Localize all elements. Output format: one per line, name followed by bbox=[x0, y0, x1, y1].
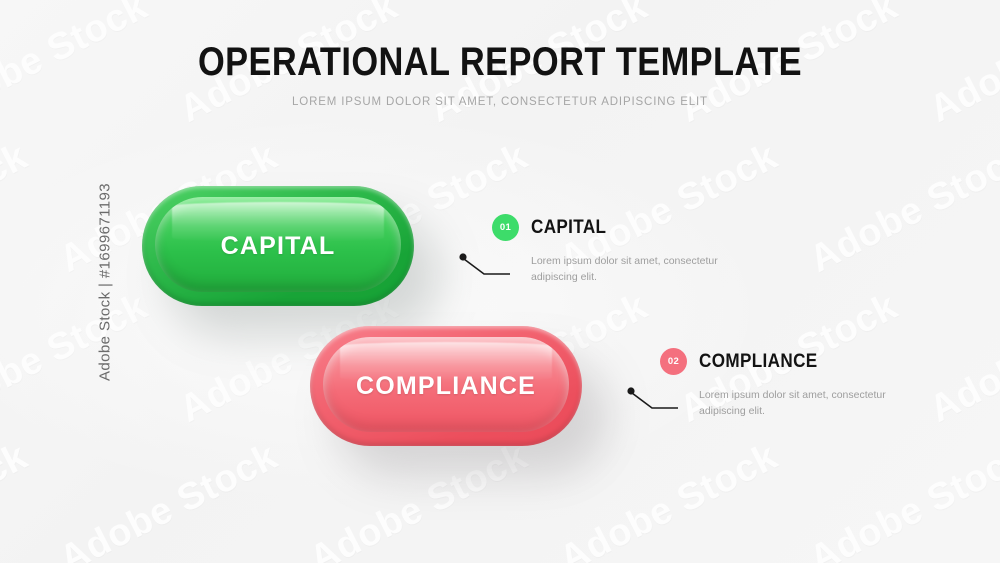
watermark-text: Adobe Stock bbox=[53, 436, 284, 563]
capsule-button-capital[interactable]: CAPITAL bbox=[142, 186, 414, 306]
capsule-button-compliance[interactable]: COMPLIANCE bbox=[310, 326, 582, 446]
info-body-capital: Lorem ipsum dolor sit amet, consectetur … bbox=[531, 253, 721, 286]
info-title-capital: CAPITAL bbox=[531, 218, 606, 237]
watermark-text: Adobe Stock bbox=[0, 436, 35, 563]
capsule-label-compliance: COMPLIANCE bbox=[356, 372, 536, 401]
watermark-text: Adobe Stock bbox=[0, 136, 35, 282]
step-badge-02: 02 bbox=[660, 348, 687, 375]
watermark-text: Adobe Stock bbox=[0, 286, 155, 432]
watermark-text: Adobe Stock bbox=[553, 436, 784, 563]
info-block-compliance: 02 COMPLIANCE Lorem ipsum dolor sit amet… bbox=[660, 348, 889, 420]
watermark-text: Adobe Stock bbox=[923, 286, 1000, 432]
capsule-label-capital: CAPITAL bbox=[221, 232, 336, 261]
watermark-text: Adobe Stock bbox=[803, 136, 1000, 282]
info-header: 01 CAPITAL bbox=[492, 214, 721, 241]
page-subtitle: LOREM IPSUM DOLOR SIT AMET, CONSECTETUR … bbox=[0, 96, 1000, 108]
stock-id-watermark: Adobe Stock | #1699671193 bbox=[96, 183, 113, 381]
watermark-text: Adobe Stock bbox=[803, 436, 1000, 563]
info-header: 02 COMPLIANCE bbox=[660, 348, 889, 375]
header: OPERATIONAL REPORT TEMPLATE LOREM IPSUM … bbox=[0, 42, 1000, 108]
info-title-compliance: COMPLIANCE bbox=[699, 352, 818, 371]
info-body-compliance: Lorem ipsum dolor sit amet, consectetur … bbox=[699, 387, 889, 420]
watermark-text: Adobe Stock bbox=[303, 436, 534, 563]
page-title: OPERATIONAL REPORT TEMPLATE bbox=[70, 42, 930, 82]
infographic-canvas: Adobe StockAdobe StockAdobe StockAdobe S… bbox=[0, 0, 1000, 563]
step-badge-01: 01 bbox=[492, 214, 519, 241]
info-block-capital: 01 CAPITAL Lorem ipsum dolor sit amet, c… bbox=[492, 214, 721, 286]
